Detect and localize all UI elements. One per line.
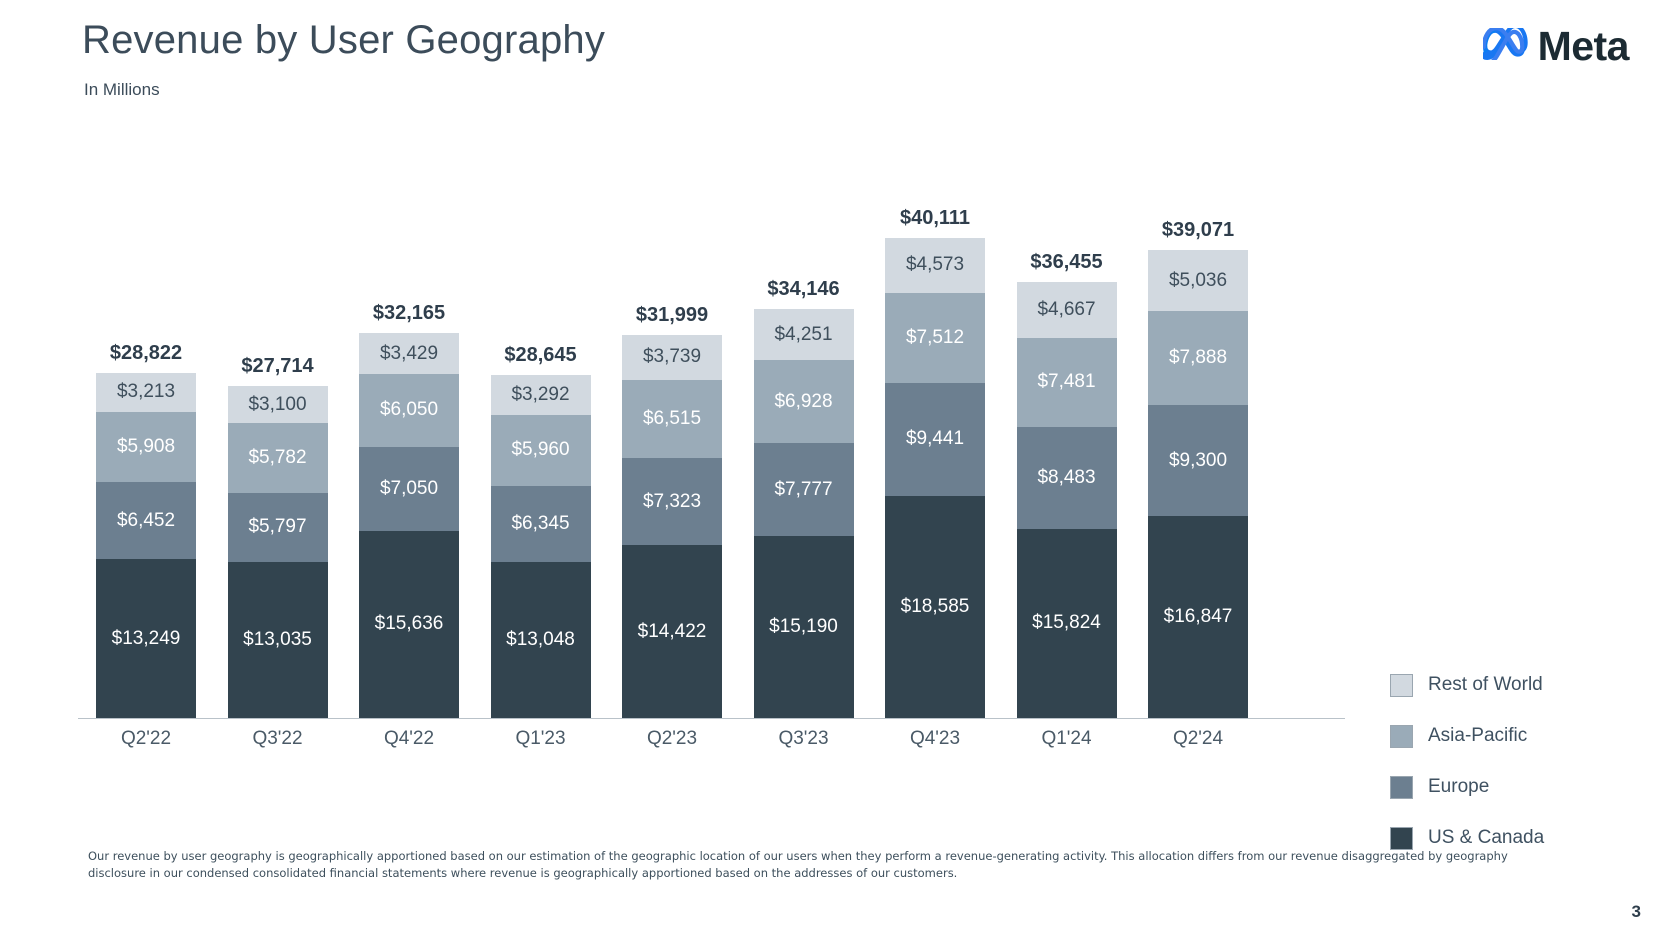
legend-swatch-icon [1390,674,1413,697]
bar-segment-rest-of-world[interactable]: $4,251 [754,309,854,360]
bar-segment-us-canada[interactable]: $13,249 [96,559,196,718]
chart-legend: Rest of WorldAsia-PacificEuropeUS & Cana… [1390,672,1544,876]
bar-stack[interactable]: $4,667$7,481$8,483$15,824 [1017,282,1117,718]
bar-group: $40,111$4,573$7,512$9,441$18,585 [885,120,985,718]
bar-segment-rest-of-world[interactable]: $4,573 [885,238,985,293]
bar-segment-europe[interactable]: $9,300 [1148,405,1248,516]
bar-segment-europe[interactable]: $6,345 [491,486,591,562]
bar-segment-rest-of-world[interactable]: $4,667 [1017,282,1117,338]
page-subtitle: In Millions [84,80,160,100]
bar-stack[interactable]: $3,100$5,782$5,797$13,035 [228,386,328,718]
bar-segment-asia-pacific[interactable]: $7,512 [885,293,985,383]
bar-segment-us-canada[interactable]: $15,824 [1017,529,1117,718]
x-axis-tick-label: Q3'22 [228,728,328,750]
meta-wordmark: Meta [1538,26,1629,67]
bar-total-label: $31,999 [622,304,722,327]
meta-infinity-icon [1483,28,1529,65]
bar-segment-us-canada[interactable]: $15,190 [754,536,854,718]
x-axis-tick-label: Q3'23 [754,728,854,750]
bar-group: $28,822$3,213$5,908$6,452$13,249 [96,120,196,718]
x-axis-tick-label: Q2'23 [622,728,722,750]
bar-segment-us-canada[interactable]: $13,048 [491,562,591,718]
x-axis-tick-label: Q1'24 [1017,728,1117,750]
bar-total-label: $34,146 [754,278,854,301]
plot-area: $28,822$3,213$5,908$6,452$13,249$27,714$… [78,120,1348,718]
bar-segment-europe[interactable]: $5,797 [228,493,328,562]
x-axis-tick-label: Q2'24 [1148,728,1248,750]
bar-segment-asia-pacific[interactable]: $6,050 [359,374,459,446]
bar-segment-us-canada[interactable]: $14,422 [622,545,722,718]
bar-segment-asia-pacific[interactable]: $7,481 [1017,338,1117,428]
legend-label: Rest of World [1428,674,1543,696]
bar-group: $28,645$3,292$5,960$6,345$13,048 [491,120,591,718]
x-axis-tick-label: Q4'23 [885,728,985,750]
bar-segment-europe[interactable]: $7,050 [359,447,459,531]
bar-segment-europe[interactable]: $6,452 [96,482,196,559]
x-axis-tick-label: Q2'22 [96,728,196,750]
legend-swatch-icon [1390,776,1413,799]
bar-segment-rest-of-world[interactable]: $3,213 [96,373,196,411]
bar-segment-rest-of-world[interactable]: $5,036 [1148,250,1248,310]
bar-segment-europe[interactable]: $7,323 [622,458,722,546]
bar-total-label: $36,455 [1017,251,1117,274]
bar-group: $32,165$3,429$6,050$7,050$15,636 [359,120,459,718]
bar-segment-europe[interactable]: $7,777 [754,443,854,536]
bar-total-label: $28,822 [96,342,196,365]
legend-label: Asia-Pacific [1428,725,1527,747]
bar-total-label: $28,645 [491,344,591,367]
meta-logo: Meta [1483,26,1629,67]
legend-item-rest-of-world[interactable]: Rest of World [1390,672,1544,698]
bar-segment-rest-of-world[interactable]: $3,739 [622,335,722,380]
bar-segment-europe[interactable]: $9,441 [885,383,985,496]
bar-total-label: $27,714 [228,355,328,378]
bar-segment-asia-pacific[interactable]: $5,782 [228,423,328,492]
bar-total-label: $39,071 [1148,219,1248,242]
legend-label: US & Canada [1428,827,1544,849]
bar-segment-asia-pacific[interactable]: $5,960 [491,415,591,486]
bar-stack[interactable]: $3,213$5,908$6,452$13,249 [96,373,196,718]
bar-group: $27,714$3,100$5,782$5,797$13,035 [228,120,328,718]
bar-segment-asia-pacific[interactable]: $7,888 [1148,311,1248,405]
legend-item-europe[interactable]: Europe [1390,774,1544,800]
bar-segment-asia-pacific[interactable]: $6,515 [622,380,722,458]
bar-group: $34,146$4,251$6,928$7,777$15,190 [754,120,854,718]
legend-swatch-icon [1390,827,1413,850]
stacked-bar-chart: $28,822$3,213$5,908$6,452$13,249$27,714$… [0,120,1669,740]
legend-label: Europe [1428,776,1489,798]
bar-segment-us-canada[interactable]: $18,585 [885,496,985,718]
bar-stack[interactable]: $4,251$6,928$7,777$15,190 [754,309,854,718]
bar-segment-us-canada[interactable]: $13,035 [228,562,328,718]
slide-header: Revenue by User Geography In Millions Me… [0,0,1669,120]
bar-segment-asia-pacific[interactable]: $5,908 [96,412,196,483]
bar-segment-europe[interactable]: $8,483 [1017,427,1117,529]
bar-stack[interactable]: $3,429$6,050$7,050$15,636 [359,333,459,718]
x-axis-line [78,718,1345,719]
bar-segment-rest-of-world[interactable]: $3,292 [491,375,591,414]
bar-segment-rest-of-world[interactable]: $3,100 [228,386,328,423]
bar-group: $31,999$3,739$6,515$7,323$14,422 [622,120,722,718]
legend-item-asia-pacific[interactable]: Asia-Pacific [1390,723,1544,749]
bar-stack[interactable]: $3,739$6,515$7,323$14,422 [622,335,722,718]
bar-group: $36,455$4,667$7,481$8,483$15,824 [1017,120,1117,718]
bar-segment-us-canada[interactable]: $16,847 [1148,516,1248,718]
x-axis-tick-label: Q1'23 [491,728,591,750]
bar-stack[interactable]: $4,573$7,512$9,441$18,585 [885,238,985,718]
bar-segment-us-canada[interactable]: $15,636 [359,531,459,718]
bar-total-label: $40,111 [885,207,985,230]
page-number: 3 [1632,902,1641,922]
bar-stack[interactable]: $5,036$7,888$9,300$16,847 [1148,250,1248,718]
bar-group: $39,071$5,036$7,888$9,300$16,847 [1148,120,1248,718]
bar-total-label: $32,165 [359,302,459,325]
page-title: Revenue by User Geography [82,18,605,63]
x-axis-tick-label: Q4'22 [359,728,459,750]
bar-segment-rest-of-world[interactable]: $3,429 [359,333,459,374]
bar-segment-asia-pacific[interactable]: $6,928 [754,360,854,443]
footnote-text: Our revenue by user geography is geograp… [88,848,1558,883]
bar-stack[interactable]: $3,292$5,960$6,345$13,048 [491,375,591,718]
legend-swatch-icon [1390,725,1413,748]
